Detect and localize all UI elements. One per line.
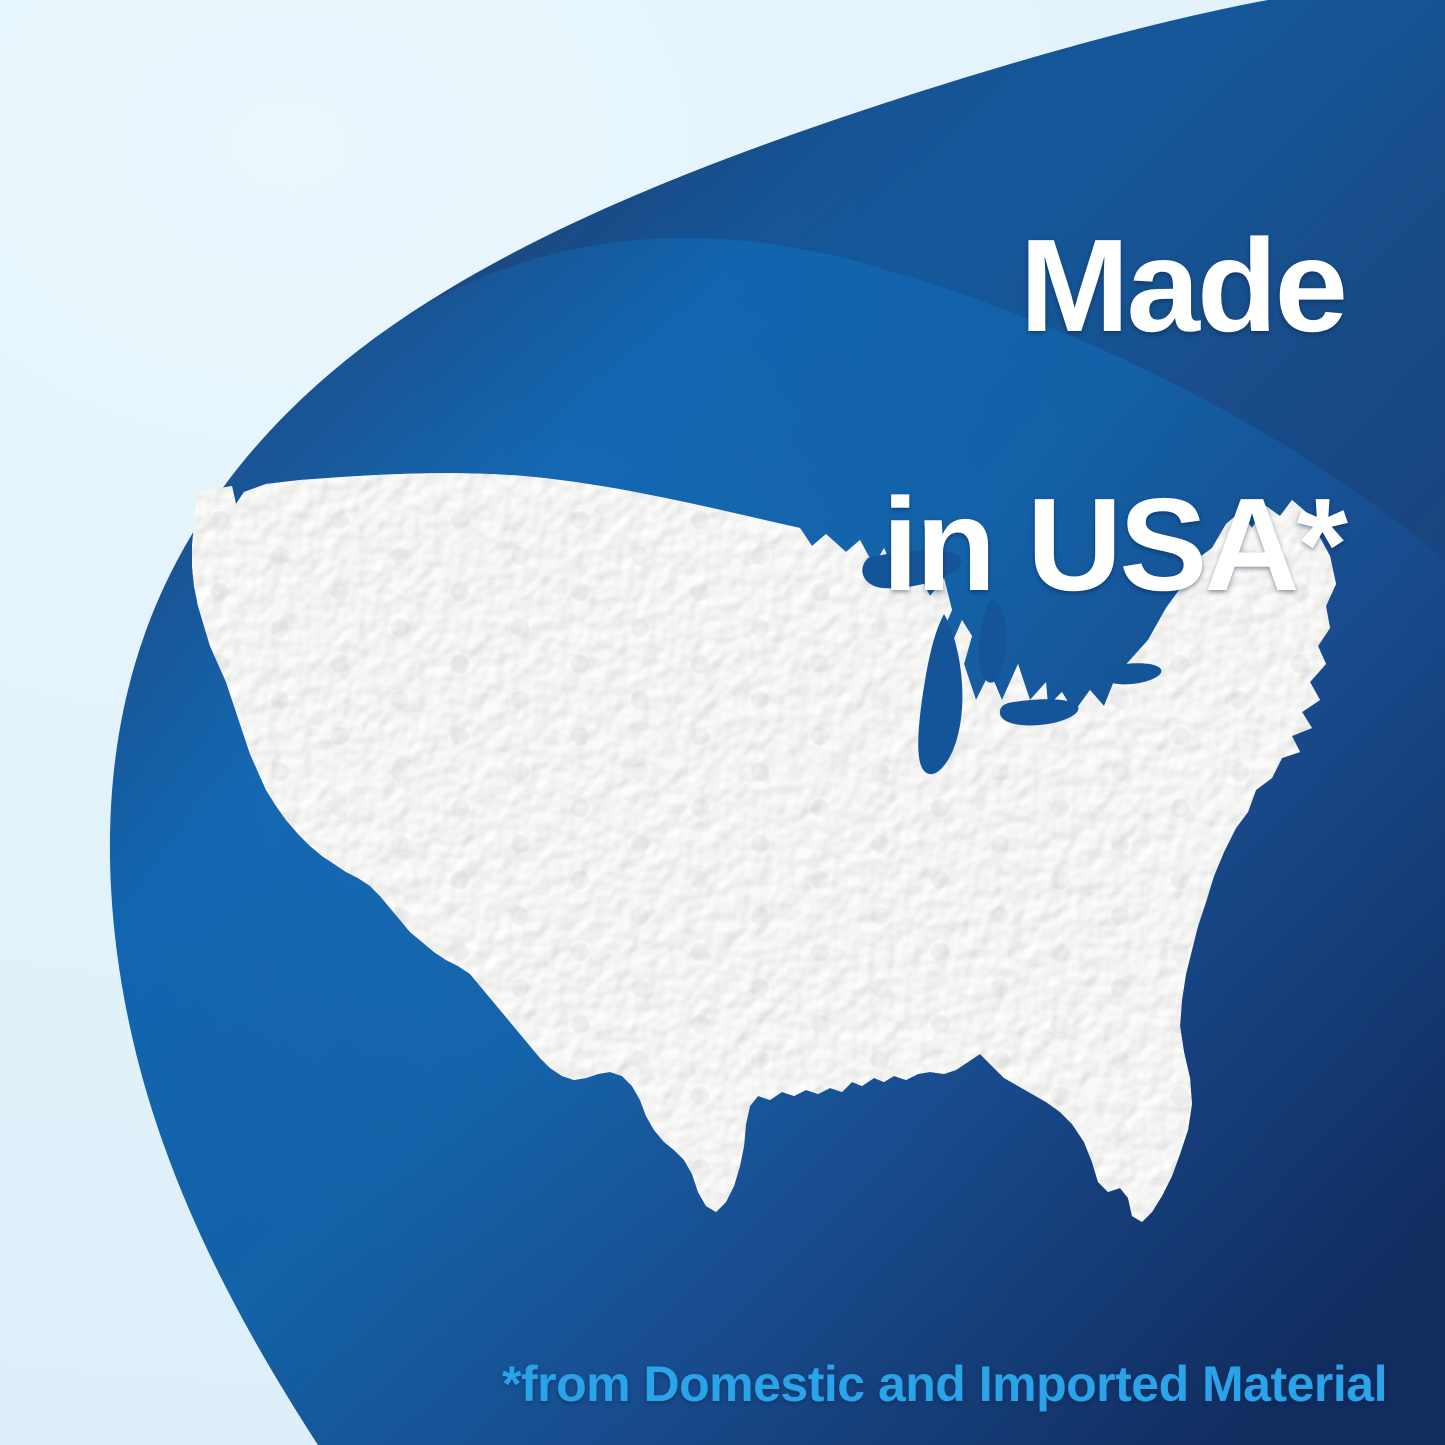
made-in-usa-banner: Made in USA* *from Domestic and Imported… bbox=[0, 0, 1445, 1445]
blue-blob-shape bbox=[0, 0, 1445, 1445]
